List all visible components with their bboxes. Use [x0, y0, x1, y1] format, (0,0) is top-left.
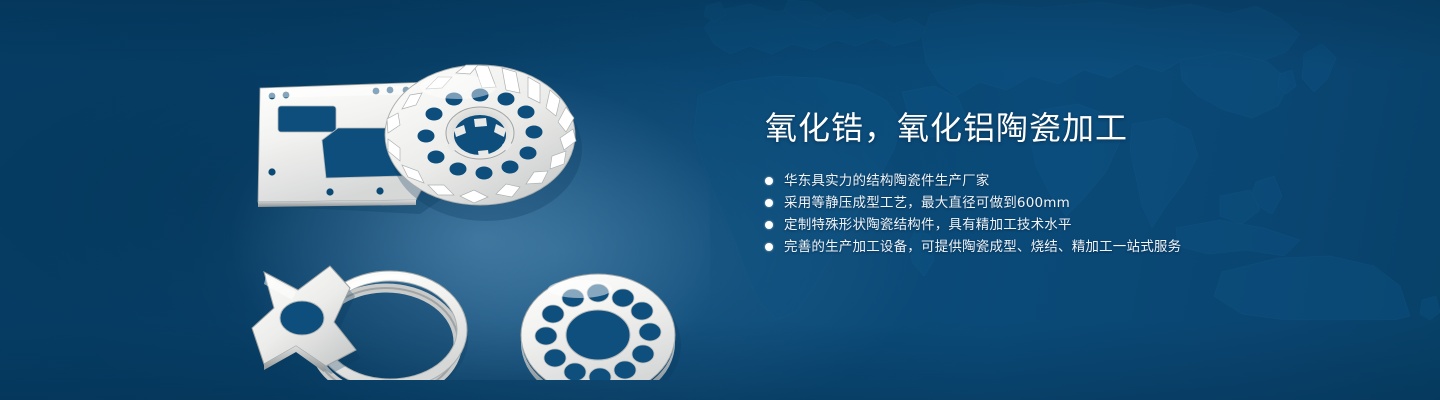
bullet-dot-icon: [765, 199, 773, 207]
banner-headline: 氧化锆，氧化铝陶瓷加工: [765, 108, 1365, 148]
plate-hole: [268, 168, 275, 175]
list-item: 定制特殊形状陶瓷结构件，具有精加工技术水平: [765, 214, 1365, 236]
list-item: 采用等静压成型工艺，最大直径可做到600mm: [765, 192, 1365, 214]
disc-highlight: [548, 280, 612, 298]
plate-hole: [376, 187, 383, 194]
banner-text-column: 氧化锆，氧化铝陶瓷加工 华东具实力的结构陶瓷件生产厂家 采用等静压成型工艺，最大…: [765, 108, 1365, 258]
list-item: 华东具实力的结构陶瓷件生产厂家: [765, 170, 1365, 192]
feature-text: 完善的生产加工设备，可提供陶瓷成型、烧结、精加工一站式服务: [784, 236, 1181, 258]
list-item: 完善的生产加工设备，可提供陶瓷成型、烧结、精加工一站式服务: [765, 236, 1365, 258]
disc-center-bore: [566, 310, 630, 360]
banner-feature-list: 华东具实力的结构陶瓷件生产厂家 采用等静压成型工艺，最大直径可做到600mm 定…: [765, 170, 1365, 258]
feature-text: 定制特殊形状陶瓷结构件，具有精加工技术水平: [784, 214, 1072, 236]
promo-banner: 氧化锆，氧化铝陶瓷加工 华东具实力的结构陶瓷件生产厂家 采用等静压成型工艺，最大…: [0, 0, 1440, 400]
plate-hole: [326, 188, 333, 195]
feature-text: 采用等静压成型工艺，最大直径可做到600mm: [784, 192, 1070, 214]
bullet-dot-icon: [765, 243, 773, 251]
bullet-dot-icon: [765, 221, 773, 229]
product-photo-group: [230, 40, 710, 380]
feature-text: 华东具实力的结构陶瓷件生产厂家: [784, 170, 990, 192]
impeller-highlight: [420, 75, 496, 99]
bullet-dot-icon: [765, 177, 773, 185]
star-center-hole: [280, 301, 324, 335]
plate-cutout-small: [278, 106, 336, 132]
